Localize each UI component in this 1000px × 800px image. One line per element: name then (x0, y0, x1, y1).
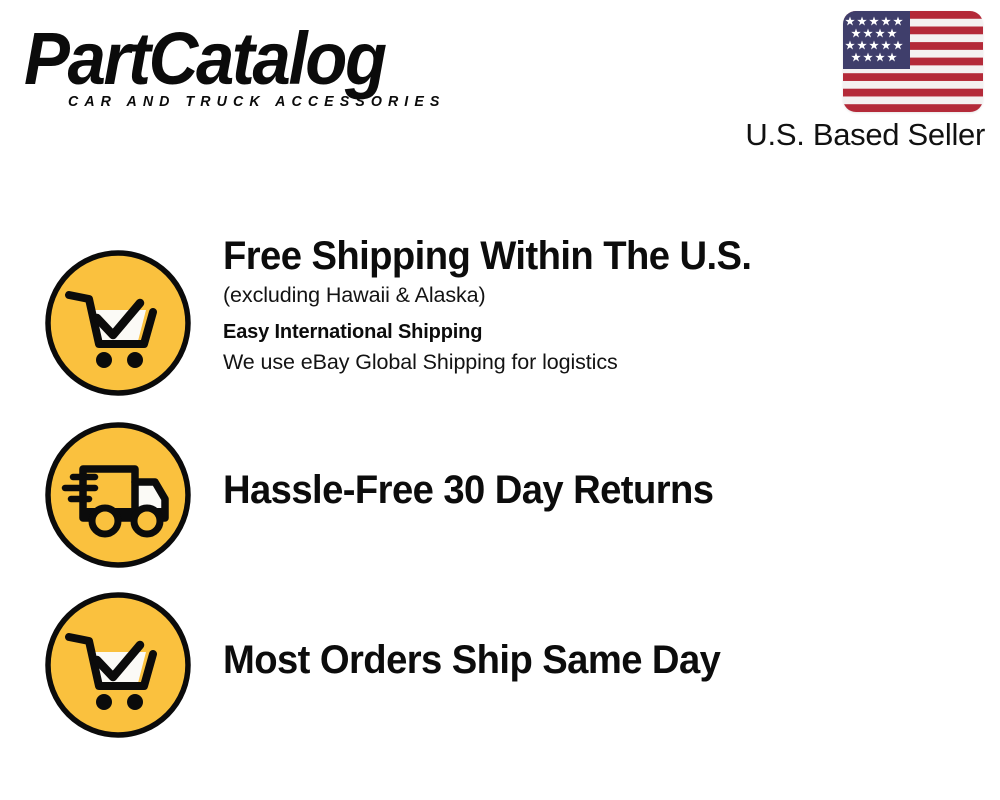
us-based-seller-label: U.S. Based Seller (620, 117, 985, 153)
feature-text-block: Hassle-Free 30 Day Returns (223, 468, 963, 512)
feature-title: Free Shipping Within The U.S. (223, 234, 930, 278)
brand-wordmark: PartCatalog (24, 20, 461, 98)
feature-extra-title: Easy International Shipping (223, 319, 963, 346)
feature-title: Hassle-Free 30 Day Returns (223, 468, 930, 512)
feature-title: Most Orders Ship Same Day (223, 638, 930, 682)
delivery-truck-icon (43, 420, 193, 570)
feature-extra-subtitle: We use eBay Global Shipping for logistic… (223, 347, 963, 377)
feature-text-block: Most Orders Ship Same Day (223, 638, 963, 682)
cart-check-icon (43, 590, 193, 740)
cart-check-icon (43, 248, 193, 398)
brand-tagline: CAR AND TRUCK ACCESSORIES (68, 94, 485, 110)
feature-text-block: Free Shipping Within The U.S. (excluding… (223, 234, 963, 377)
feature-subtitle: (excluding Hawaii & Alaska) (223, 280, 963, 310)
us-flag-icon (843, 11, 983, 112)
brand-logo[interactable]: PartCatalog CAR AND TRUCK ACCESSORIES (24, 20, 494, 110)
